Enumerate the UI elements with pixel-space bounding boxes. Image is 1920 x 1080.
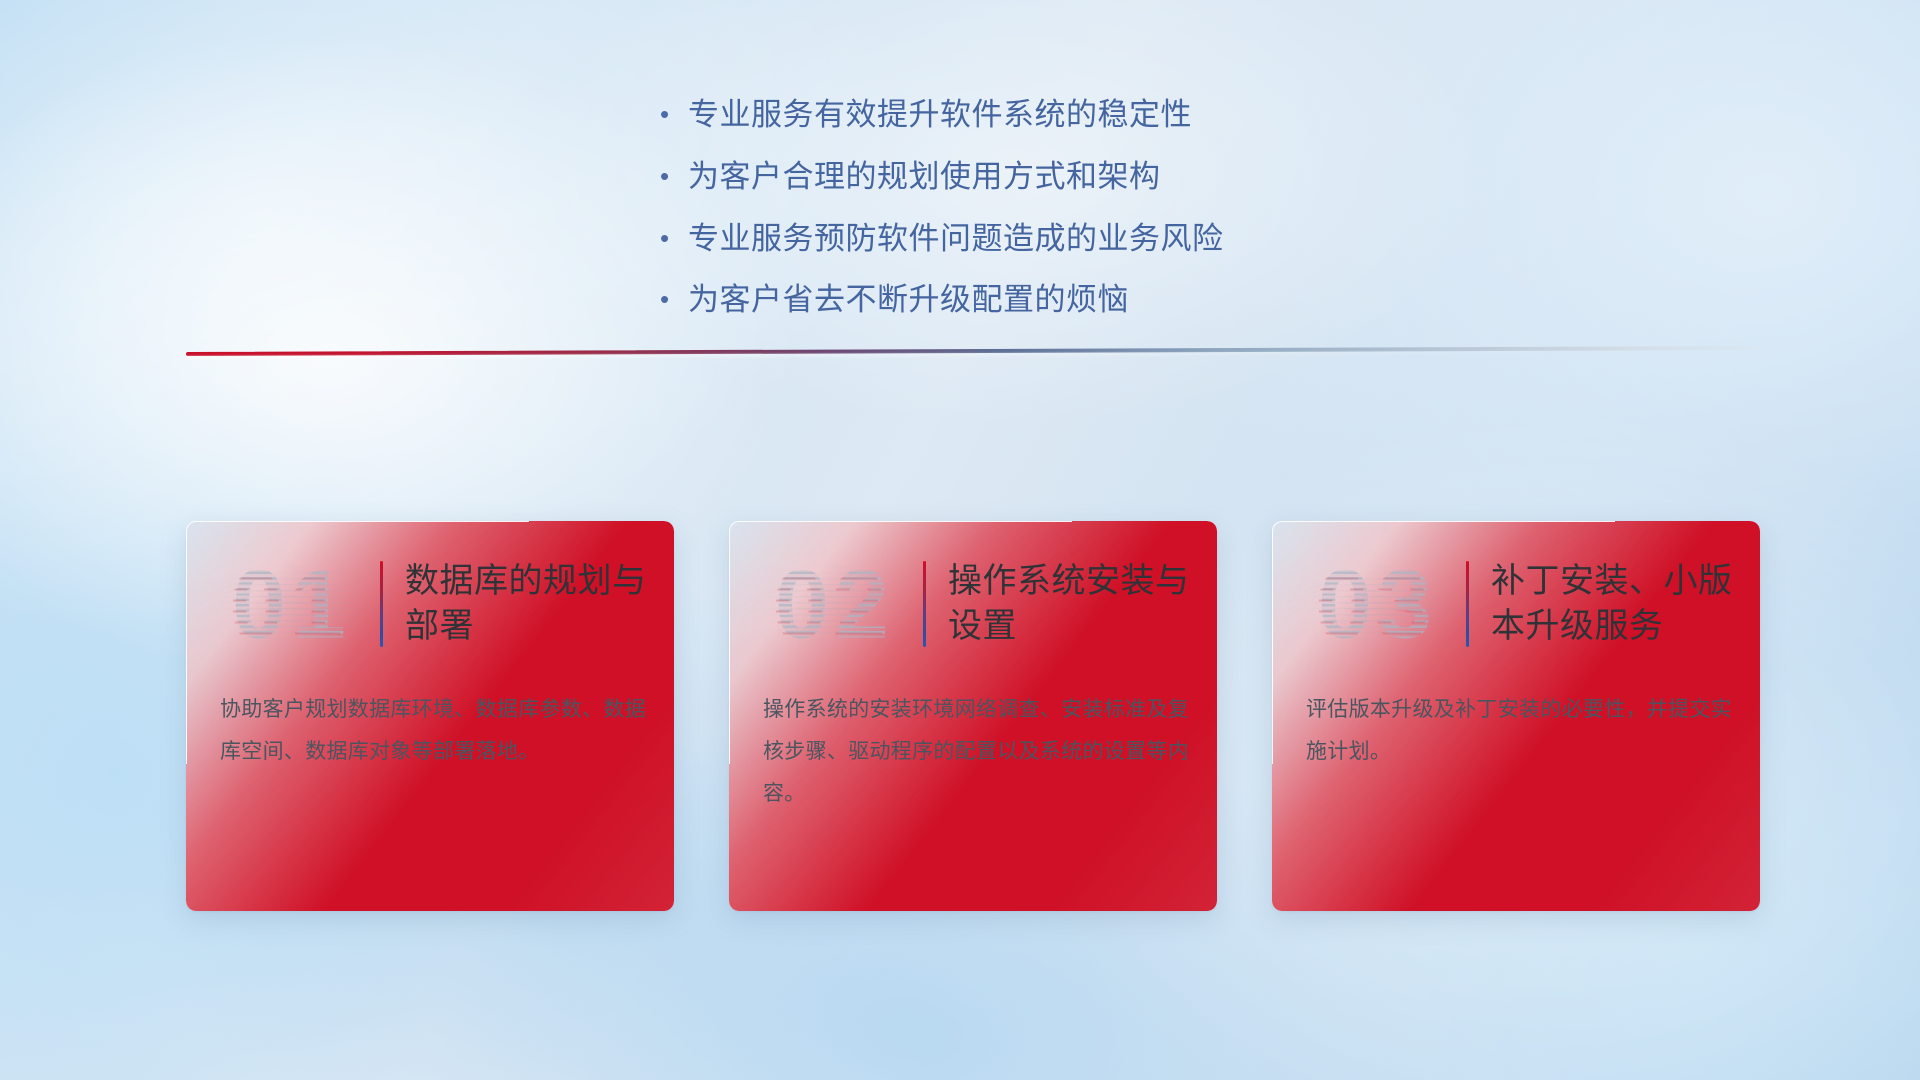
bullet-dot-icon: • [660,101,688,127]
card-title: 补丁安装、小版本升级服务 [1491,559,1760,649]
card-number-glitch: 02 [744,558,920,655]
card-03[interactable]: 03 03 补丁安装、小版本升级服务 评估版本升级及补丁安装的必要性，并提交实施… [1272,521,1760,911]
card-number-watermark: 03 03 [1290,548,1466,660]
card-title: 操作系统安装与设置 [948,559,1217,649]
card-title: 数据库的规划与部署 [405,559,674,649]
card-description: 操作系统的安装环境网络调查、安装标准及复核步骤、驱动程序的配置以及系统的设置等内… [763,689,1189,815]
bullet-text: 为客户合理的规划使用方式和架构 [688,158,1161,197]
card-header: 01 01 数据库的规划与部署 [186,543,674,665]
card-header: 03 03 补丁安装、小版本升级服务 [1272,543,1760,665]
bullet-dot-icon: • [660,163,688,189]
card-description: 协助客户规划数据库环境、数据库参数、数据库空间、数据库对象等部署落地。 [220,689,646,773]
bullet-list: • 专业服务有效提升软件系统的稳定性 • 为客户合理的规划使用方式和架构 • 专… [660,96,1420,343]
card-header: 02 02 操作系统安装与设置 [729,543,1217,665]
card-01[interactable]: 01 01 数据库的规划与部署 协助客户规划数据库环境、数据库参数、数据库空间、… [186,521,674,911]
bullet-dot-icon: • [660,225,688,251]
card-title-rule [380,561,383,647]
bullet-item: • 专业服务预防软件问题造成的业务风险 [660,220,1420,259]
card-title-rule [1466,561,1469,647]
gradient-divider [186,344,1762,358]
bullet-item: • 专业服务有效提升软件系统的稳定性 [660,96,1420,135]
slide-canvas: • 专业服务有效提升软件系统的稳定性 • 为客户合理的规划使用方式和架构 • 专… [0,0,1920,1080]
bullet-text: 专业服务有效提升软件系统的稳定性 [688,96,1192,135]
card-description: 评估版本升级及补丁安装的必要性，并提交实施计划。 [1306,689,1732,773]
bullet-text: 专业服务预防软件问题造成的业务风险 [688,220,1224,259]
bullet-item: • 为客户合理的规划使用方式和架构 [660,158,1420,197]
bullet-dot-icon: • [660,286,688,312]
card-number-watermark: 01 01 [204,548,380,660]
card-row: 01 01 数据库的规划与部署 协助客户规划数据库环境、数据库参数、数据库空间、… [186,521,1762,911]
card-title-rule [923,561,926,647]
card-number-glitch: 03 [1287,558,1463,655]
card-number-glitch: 01 [201,558,377,655]
bullet-text: 为客户省去不断升级配置的烦恼 [688,281,1129,320]
card-number-watermark: 02 02 [747,548,923,660]
bullet-item: • 为客户省去不断升级配置的烦恼 [660,281,1420,320]
card-02[interactable]: 02 02 操作系统安装与设置 操作系统的安装环境网络调查、安装标准及复核步骤、… [729,521,1217,911]
